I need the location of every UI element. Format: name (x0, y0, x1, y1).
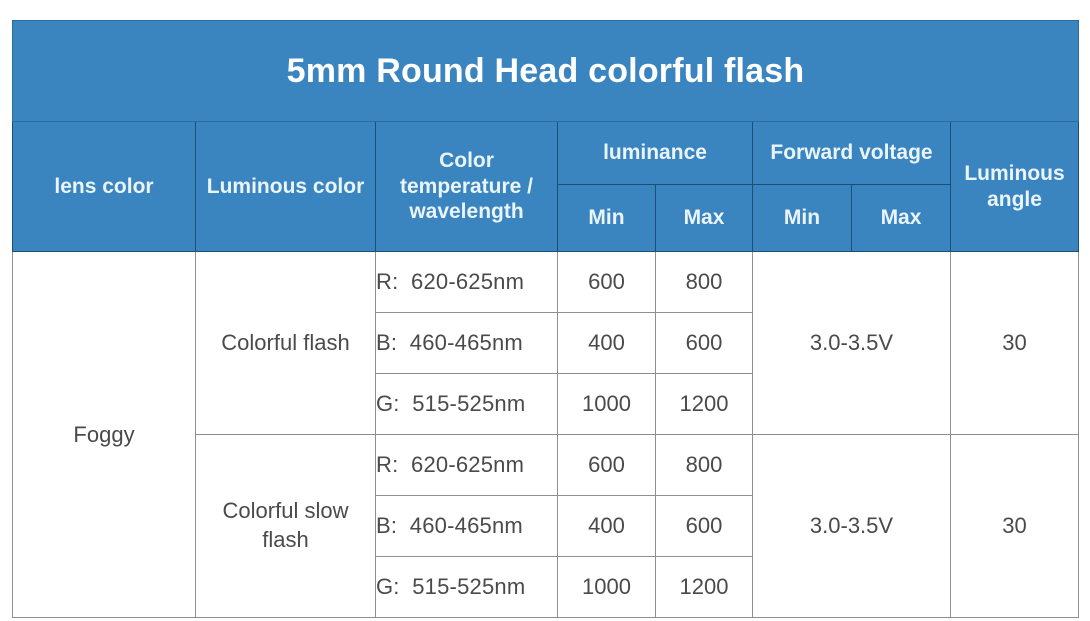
cell-luminance-max: 1200 (656, 557, 753, 618)
cell-luminous-angle-group-0: 30 (951, 252, 1079, 435)
column-header-luminous-color: Luminous color (196, 122, 376, 252)
header-row-primary: lens color Luminous color Color temperat… (13, 122, 1079, 185)
cell-luminance-min: 600 (558, 252, 656, 313)
cell-luminance-max: 600 (656, 313, 753, 374)
cell-luminous-color-group-0: Colorful flash (196, 252, 376, 435)
column-header-luminance-max: Max (656, 185, 753, 252)
cell-forward-voltage-group-1: 3.0-3.5V (753, 435, 951, 618)
cell-wavelength: G: 515-525nm (376, 374, 558, 435)
cell-luminance-min: 600 (558, 435, 656, 496)
cell-luminance-min: 1000 (558, 374, 656, 435)
column-header-forward-voltage-min: Min (753, 185, 852, 252)
cell-luminance-max: 800 (656, 435, 753, 496)
luminous-color-line-2: flash (262, 527, 308, 552)
cell-luminance-max: 600 (656, 496, 753, 557)
luminous-color-line-1: Colorful slow (223, 498, 349, 523)
page-title: 5mm Round Head colorful flash (13, 21, 1079, 122)
cell-wavelength: G: 515-525nm (376, 557, 558, 618)
luminous-angle-line-1: Luminous (964, 162, 1064, 185)
luminous-color-line-1: Colorful flash (221, 330, 349, 355)
color-temperature-line-3: wavelength (409, 200, 523, 223)
cell-wavelength: B: 460-465nm (376, 313, 558, 374)
cell-luminance-min: 400 (558, 496, 656, 557)
column-header-lens-color: lens color (13, 122, 196, 252)
cell-luminous-angle-group-1: 30 (951, 435, 1079, 618)
color-temperature-line-2: temperature / (400, 175, 533, 198)
column-header-luminance-min: Min (558, 185, 656, 252)
column-header-color-temperature-wavelength: Color temperature / wavelength (376, 122, 558, 252)
luminous-angle-line-2: angle (987, 188, 1042, 211)
cell-wavelength: R: 620-625nm (376, 435, 558, 496)
table-row: Foggy Colorful flash R: 620-625nm 600 80… (13, 252, 1079, 313)
cell-luminance-max: 1200 (656, 374, 753, 435)
cell-lens-color: Foggy (13, 252, 196, 618)
column-header-luminous-angle: Luminous angle (951, 122, 1079, 252)
column-header-forward-voltage: Forward voltage (753, 122, 951, 185)
column-header-luminance: luminance (558, 122, 753, 185)
spec-sheet-page: 5mm Round Head colorful flash lens color… (0, 0, 1090, 621)
title-row: 5mm Round Head colorful flash (13, 21, 1079, 122)
cell-luminance-min: 1000 (558, 557, 656, 618)
led-specification-table: 5mm Round Head colorful flash lens color… (12, 20, 1079, 618)
cell-forward-voltage-group-0: 3.0-3.5V (753, 252, 951, 435)
cell-wavelength: B: 460-465nm (376, 496, 558, 557)
column-header-forward-voltage-max: Max (852, 185, 951, 252)
cell-luminance-min: 400 (558, 313, 656, 374)
color-temperature-line-1: Color (439, 149, 494, 172)
cell-luminance-max: 800 (656, 252, 753, 313)
cell-luminous-color-group-1: Colorful slow flash (196, 435, 376, 618)
cell-wavelength: R: 620-625nm (376, 252, 558, 313)
